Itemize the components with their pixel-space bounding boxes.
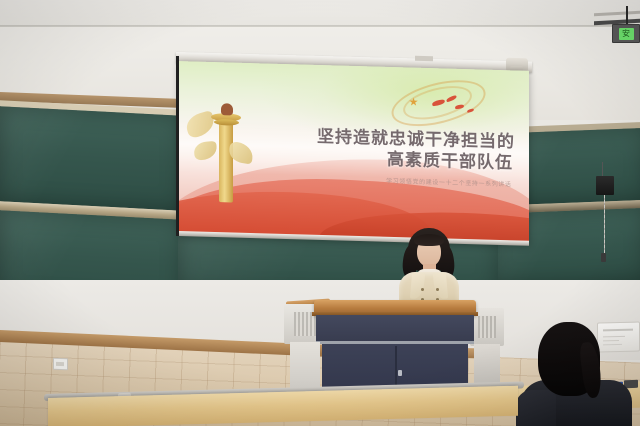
ceiling-edge-line bbox=[0, 25, 640, 27]
student-shoulder bbox=[516, 390, 556, 426]
screen-bracket bbox=[415, 56, 433, 61]
console-right-speaker-grille bbox=[478, 316, 496, 338]
slide-title: 坚持造就忠诚干净担当的 高素质干部队伍 bbox=[207, 124, 515, 174]
wall-device-antenna bbox=[602, 162, 603, 177]
classroom-photo: 安 ★ bbox=[0, 0, 640, 426]
console-cabinet-handle[interactable] bbox=[398, 370, 402, 376]
presenter-bangs bbox=[414, 234, 444, 246]
star-icon: ★ bbox=[409, 98, 420, 109]
chalkboard-left-upper bbox=[0, 106, 182, 211]
pull-cord-weight[interactable] bbox=[601, 253, 606, 262]
power-outlet[interactable] bbox=[53, 358, 68, 371]
exit-icon: 安 bbox=[619, 28, 634, 40]
exit-sign-stem bbox=[626, 6, 628, 25]
exit-sign: 安 bbox=[612, 24, 640, 43]
seated-student bbox=[516, 322, 634, 426]
projection-screen: ★ 坚持造就忠诚干净担当的 高素质干部队伍 学习领悟党的建设一十二个坚持一系列讲… bbox=[179, 61, 529, 244]
pull-cord[interactable] bbox=[604, 195, 605, 255]
dove-icon bbox=[467, 108, 475, 112]
slide-emblem: ★ bbox=[386, 79, 491, 127]
console-front-panel bbox=[316, 315, 474, 342]
ceiling bbox=[0, 0, 640, 26]
wall-mounted-device bbox=[596, 176, 614, 195]
chalkboard-left bbox=[0, 100, 186, 310]
huabiao-beast-icon bbox=[221, 103, 233, 115]
